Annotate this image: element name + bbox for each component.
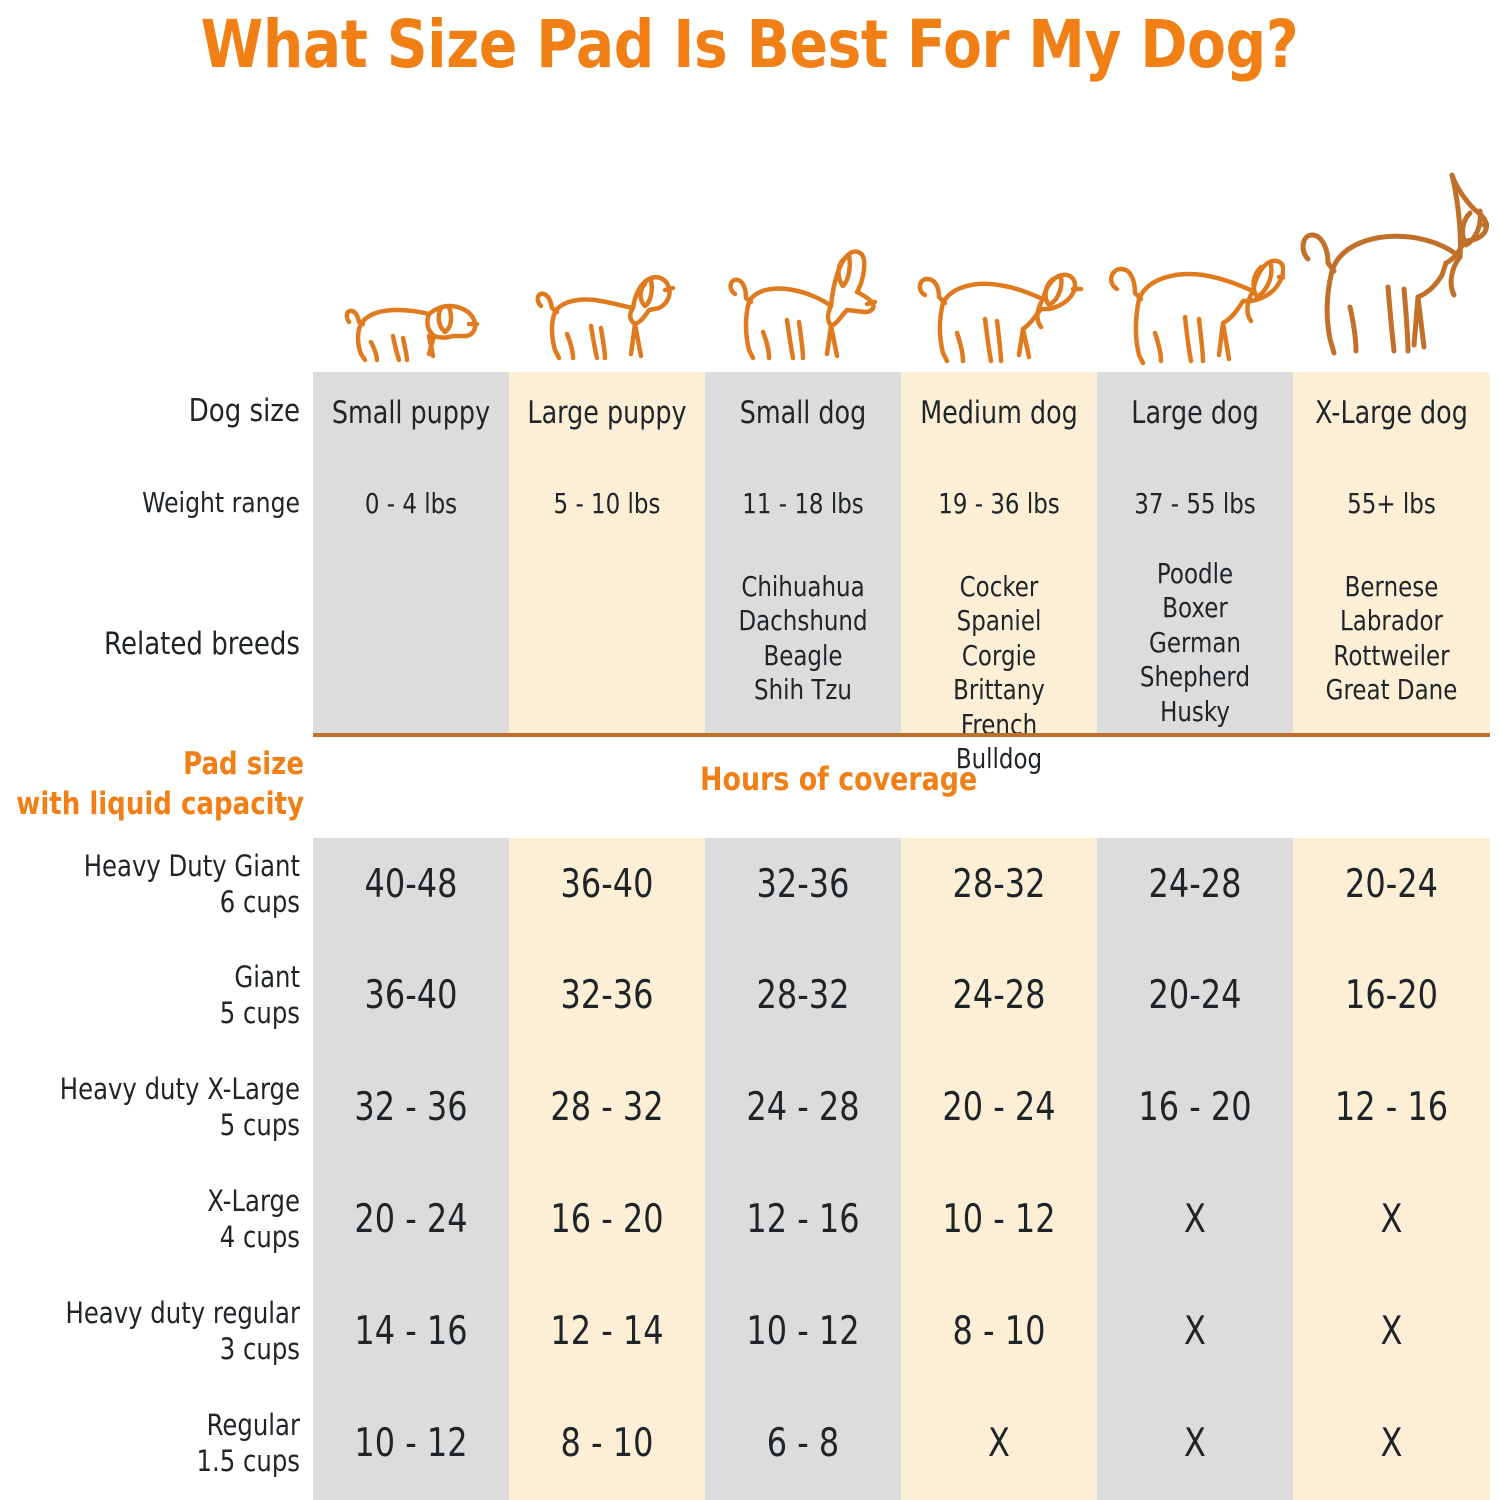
dog-size-cell-3: Medium dog: [919, 395, 1080, 431]
pad-row-label-1: Giant 5 cups: [0, 959, 300, 1032]
hours-cell-3-4: X: [1115, 1197, 1276, 1243]
dog-icon-cell-1: [509, 150, 705, 372]
hours-cell-0-3: 28-32: [919, 862, 1080, 908]
dog-silhouette-band: [313, 150, 1490, 372]
hours-cell-3-2: 12 - 16: [723, 1197, 884, 1243]
pad-row-capacity-5: 1.5 cups: [0, 1443, 300, 1479]
dog-size-cell-5: X-Large dog: [1311, 395, 1473, 431]
pad-row-capacity-0: 6 cups: [0, 884, 300, 920]
pad-column-stripe-3: [901, 838, 1097, 1500]
hours-cell-1-4: 20-24: [1115, 973, 1276, 1019]
pad-row-name-1: Giant: [0, 959, 300, 995]
dog-size-cell-4: Large dog: [1115, 395, 1276, 431]
hours-cell-5-1: 8 - 10: [527, 1421, 688, 1467]
hours-cell-0-4: 24-28: [1115, 862, 1276, 908]
pad-row-capacity-3: 4 cups: [0, 1219, 300, 1255]
pad-column-stripe-1: [509, 838, 705, 1500]
hours-cell-2-0: 32 - 36: [331, 1085, 492, 1131]
dog-icon-cell-5: [1293, 150, 1490, 372]
infographic-root: What Size Pad Is Best For My Dog?: [0, 0, 1499, 1500]
pad-row-name-2: Heavy duty X-Large: [0, 1071, 300, 1107]
pad-row-name-5: Regular: [0, 1407, 300, 1443]
hours-cell-5-3: X: [919, 1421, 1080, 1467]
hours-cell-5-2: 6 - 8: [723, 1421, 884, 1467]
hours-cell-3-3: 10 - 12: [919, 1197, 1080, 1243]
hours-cell-0-5: 20-24: [1311, 862, 1473, 908]
pad-row-capacity-2: 5 cups: [0, 1107, 300, 1143]
hours-cell-3-5: X: [1311, 1197, 1473, 1243]
hours-cell-1-3: 24-28: [919, 973, 1080, 1019]
hours-cell-2-3: 20 - 24: [919, 1085, 1080, 1131]
pad-row-capacity-4: 3 cups: [0, 1331, 300, 1367]
hours-cell-1-1: 32-36: [527, 973, 688, 1019]
row-label-dog-size: Dog size: [0, 393, 300, 430]
hours-cell-4-2: 10 - 12: [723, 1309, 884, 1355]
hours-cell-4-0: 14 - 16: [331, 1309, 492, 1355]
pad-column-stripe-0: [313, 838, 509, 1500]
section-divider: [313, 733, 1490, 737]
pad-size-heading: Pad size with liquid capacity: [0, 745, 304, 824]
small-puppy-icon: [341, 280, 481, 372]
dog-size-cell-0: Small puppy: [331, 395, 492, 431]
pad-row-label-5: Regular 1.5 cups: [0, 1407, 300, 1480]
hours-cell-0-2: 32-36: [723, 862, 884, 908]
hours-cell-4-5: X: [1311, 1309, 1473, 1355]
breeds-cell-5: Bernese Labrador Rottweiler Great Dane: [1311, 570, 1473, 708]
pad-row-label-2: Heavy duty X-Large 5 cups: [0, 1071, 300, 1144]
hours-cell-1-0: 36-40: [331, 973, 492, 1019]
hours-cell-2-1: 28 - 32: [527, 1085, 688, 1131]
pad-row-capacity-1: 5 cups: [0, 995, 300, 1031]
dog-icon-cell-2: [705, 150, 901, 372]
pad-column-stripe-5: [1293, 838, 1490, 1500]
hours-cell-1-2: 28-32: [723, 973, 884, 1019]
pad-size-heading-line1: Pad size: [0, 745, 304, 785]
hours-cell-3-1: 16 - 20: [527, 1197, 688, 1243]
breeds-cell-2: Chihuahua Dachshund Beagle Shih Tzu: [723, 570, 884, 708]
pad-row-name-3: X-Large: [0, 1183, 300, 1219]
pad-size-heading-line2: with liquid capacity: [0, 785, 304, 825]
hours-cell-2-4: 16 - 20: [1115, 1085, 1276, 1131]
pad-column-stripe-2: [705, 838, 901, 1500]
weight-range-cell-1: 5 - 10 lbs: [527, 488, 688, 521]
dog-size-cell-1: Large puppy: [527, 395, 688, 431]
hours-cell-0-0: 40-48: [331, 862, 492, 908]
pad-row-label-3: X-Large 4 cups: [0, 1183, 300, 1256]
dog-icon-cell-4: [1097, 150, 1293, 372]
pad-row-name-0: Heavy Duty Giant: [0, 848, 300, 884]
weight-range-cell-2: 11 - 18 lbs: [723, 488, 884, 521]
hours-cell-4-3: 8 - 10: [919, 1309, 1080, 1355]
pad-row-label-0: Heavy Duty Giant 6 cups: [0, 848, 300, 921]
breeds-cell-3: Cocker Spaniel Corgie Brittany French Bu…: [919, 570, 1080, 777]
hours-cell-5-4: X: [1115, 1421, 1276, 1467]
hours-cell-2-2: 24 - 28: [723, 1085, 884, 1131]
hours-cell-4-4: X: [1115, 1309, 1276, 1355]
weight-range-cell-3: 19 - 36 lbs: [919, 488, 1080, 521]
bottom-table-stripes: [313, 838, 1490, 1500]
dog-size-cell-2: Small dog: [723, 395, 884, 431]
hours-of-coverage-heading: Hours of coverage: [700, 760, 977, 798]
page-title: What Size Pad Is Best For My Dog?: [105, 6, 1394, 83]
small-dog-icon: [723, 242, 883, 372]
pad-row-name-4: Heavy duty regular: [0, 1295, 300, 1331]
pad-column-stripe-4: [1097, 838, 1293, 1500]
dog-icon-cell-3: [901, 150, 1097, 372]
breeds-cell-4: Poodle Boxer German Shepherd Husky: [1115, 557, 1276, 729]
row-label-related-breeds: Related breeds: [0, 626, 300, 663]
weight-range-cell-5: 55+ lbs: [1311, 488, 1473, 521]
dog-icon-cell-0: [313, 150, 509, 372]
hours-cell-5-5: X: [1311, 1421, 1473, 1467]
weight-range-cell-0: 0 - 4 lbs: [331, 488, 492, 521]
weight-range-cell-4: 37 - 55 lbs: [1115, 488, 1276, 521]
pad-row-label-4: Heavy duty regular 3 cups: [0, 1295, 300, 1368]
row-label-weight-range: Weight range: [0, 486, 300, 520]
large-dog-icon: [1105, 227, 1285, 372]
hours-cell-0-1: 36-40: [527, 862, 688, 908]
hours-cell-2-5: 12 - 16: [1311, 1085, 1473, 1131]
large-puppy-icon: [531, 260, 683, 372]
xlarge-dog-icon: [1294, 167, 1489, 372]
hours-cell-5-0: 10 - 12: [331, 1421, 492, 1467]
hours-cell-1-5: 16-20: [1311, 973, 1473, 1019]
hours-cell-3-0: 20 - 24: [331, 1197, 492, 1243]
medium-dog-icon: [915, 247, 1083, 372]
hours-cell-4-1: 12 - 14: [527, 1309, 688, 1355]
